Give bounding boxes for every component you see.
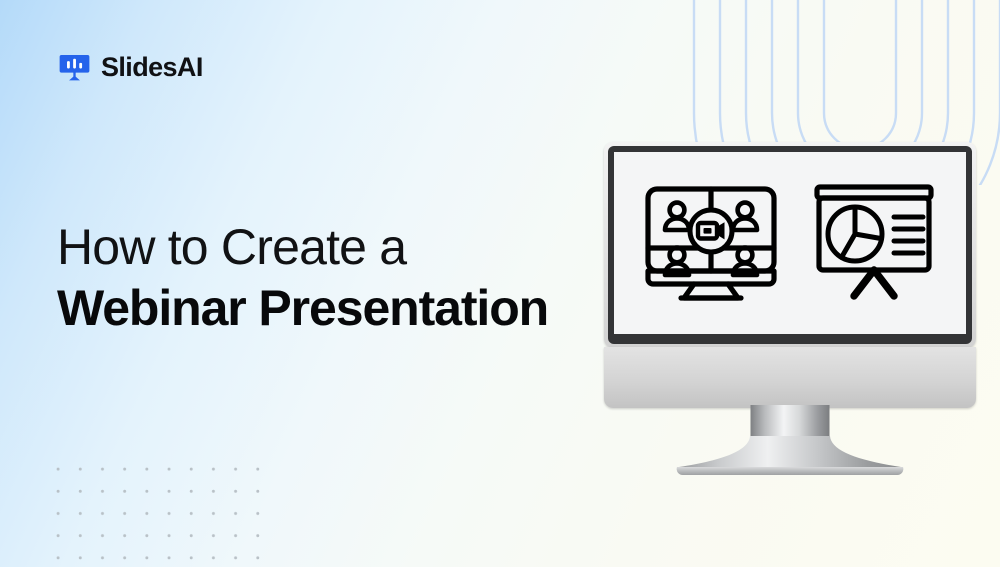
- page-title: How to Create a Webinar Presentation: [57, 219, 657, 337]
- pie-chart-icon: [828, 207, 882, 261]
- brand-logo: SlidesAI: [57, 50, 203, 85]
- dot-grid-pattern: [46, 457, 264, 567]
- monitor-chin: [604, 347, 976, 408]
- video-conference-icon: [642, 184, 780, 302]
- desktop-monitor-illustration: [604, 142, 976, 474]
- headline-line-1: How to Create a: [57, 219, 657, 276]
- brand-name: SlidesAI: [101, 54, 203, 81]
- monitor-body: [604, 142, 976, 348]
- monitor-stand-base: [665, 436, 915, 480]
- presentation-board-icon: [57, 50, 92, 85]
- monitor-screen: [614, 152, 966, 334]
- headline-line-2: Webinar Presentation: [57, 280, 657, 337]
- cover-canvas: SlidesAI How to Create a Webinar Present…: [0, 0, 1000, 567]
- presentation-board-chart-icon: [810, 182, 938, 304]
- monitor-bezel: [608, 146, 972, 344]
